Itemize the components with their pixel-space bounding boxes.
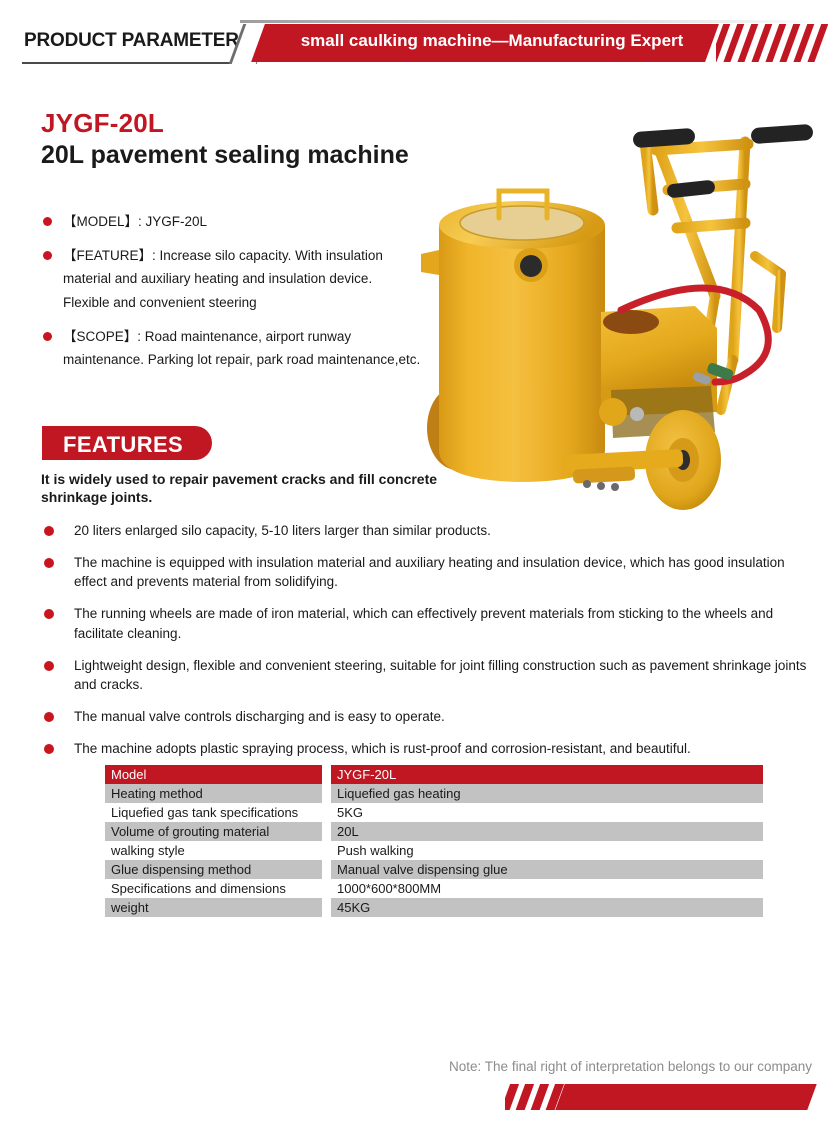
bullet-dot-icon: [44, 558, 54, 568]
spec-bullet-item: 【SCOPE】: Road maintenance, airport runwa…: [41, 325, 421, 371]
table-column-gap: [322, 898, 331, 917]
table-cell-value: 5KG: [331, 803, 763, 822]
feature-bullet-text: 20 liters enlarged silo capacity, 5-10 l…: [74, 523, 491, 538]
table-column-gap: [322, 822, 331, 841]
table-row: Glue dispensing methodManual valve dispe…: [105, 860, 763, 879]
header-stripe-decoration: [716, 24, 828, 62]
feature-bullet-item: The running wheels are made of iron mate…: [41, 604, 811, 642]
product-name: 20L pavement sealing machine: [41, 141, 409, 170]
spec-bullet-text: 【MODEL】: JYGF-20L: [63, 214, 207, 229]
table-cell-label: Heating method: [105, 784, 322, 803]
spec-bullet-text: 【FEATURE】: Increase silo capacity. With …: [63, 248, 383, 309]
table-cell-value: Liquefied gas heating: [331, 784, 763, 803]
spec-bullet-item: 【FEATURE】: Increase silo capacity. With …: [41, 244, 421, 314]
feature-bullet-text: The machine is equipped with insulation …: [74, 555, 785, 589]
footer-note: Note: The final right of interpretation …: [449, 1059, 812, 1074]
table-cell-value: JYGF-20L: [331, 765, 763, 784]
feature-bullet-text: Lightweight design, flexible and conveni…: [74, 658, 806, 692]
table-cell-value: 1000*600*800MM: [331, 879, 763, 898]
specification-table: ModelJYGF-20LHeating methodLiquefied gas…: [105, 765, 763, 917]
table-row: weight45KG: [105, 898, 763, 917]
table-cell-value: 45KG: [331, 898, 763, 917]
table-cell-value: 20L: [331, 822, 763, 841]
table-cell-label: weight: [105, 898, 322, 917]
feature-bullet-item: 20 liters enlarged silo capacity, 5-10 l…: [41, 521, 811, 540]
table-row: walking stylePush walking: [105, 841, 763, 860]
product-model-code: JYGF-20L: [41, 108, 164, 139]
bullet-dot-icon: [43, 251, 52, 260]
table-cell-label: Volume of grouting material: [105, 822, 322, 841]
table-cell-label: Glue dispensing method: [105, 860, 322, 879]
feature-bullet-text: The machine adopts plastic spraying proc…: [74, 741, 691, 756]
spec-bullet-text: 【SCOPE】: Road maintenance, airport runwa…: [63, 329, 420, 367]
table-row: Heating methodLiquefied gas heating: [105, 784, 763, 803]
page-title-underline: [22, 62, 237, 64]
features-intro-text: It is widely used to repair pavement cra…: [41, 470, 441, 507]
table-column-gap: [322, 841, 331, 860]
bullet-dot-icon: [44, 526, 54, 536]
bullet-dot-icon: [44, 661, 54, 671]
table-cell-label: Model: [105, 765, 322, 784]
table-column-gap: [322, 765, 331, 784]
feature-bullet-item: The machine is equipped with insulation …: [41, 553, 811, 591]
bullet-dot-icon: [43, 217, 52, 226]
table-column-gap: [322, 860, 331, 879]
table-column-gap: [322, 784, 331, 803]
table-cell-label: Specifications and dimensions: [105, 879, 322, 898]
header-banner-label: small caulking machine—Manufacturing Exp…: [282, 31, 702, 51]
bullet-dot-icon: [44, 609, 54, 619]
table-row: Specifications and dimensions1000*600*80…: [105, 879, 763, 898]
table-cell-label: Liquefied gas tank specifications: [105, 803, 322, 822]
table-row: ModelJYGF-20L: [105, 765, 763, 784]
feature-bullet-item: The manual valve controls discharging an…: [41, 707, 811, 726]
features-badge-label: FEATURES: [63, 432, 183, 458]
table-cell-value: Manual valve dispensing glue: [331, 860, 763, 879]
bullet-dot-icon: [44, 744, 54, 754]
product-spec-list: 【MODEL】: JYGF-20L【FEATURE】: Increase sil…: [41, 210, 421, 382]
table-row: Volume of grouting material20L: [105, 822, 763, 841]
table-row: Liquefied gas tank specifications5KG: [105, 803, 763, 822]
feature-bullet-item: Lightweight design, flexible and conveni…: [41, 656, 811, 694]
features-list: 20 liters enlarged silo capacity, 5-10 l…: [41, 521, 811, 771]
feature-bullet-text: The manual valve controls discharging an…: [74, 709, 445, 724]
table-cell-value: Push walking: [331, 841, 763, 860]
bullet-dot-icon: [43, 332, 52, 341]
feature-bullet-text: The running wheels are made of iron mate…: [74, 606, 773, 640]
feature-bullet-item: The machine adopts plastic spraying proc…: [41, 739, 811, 758]
footer-bar: [555, 1084, 816, 1110]
table-cell-label: walking style: [105, 841, 322, 860]
product-photo: [415, 60, 835, 520]
header-sheen-line: [240, 20, 830, 23]
bullet-dot-icon: [44, 712, 54, 722]
table-column-gap: [322, 879, 331, 898]
table-column-gap: [322, 803, 331, 822]
spec-bullet-item: 【MODEL】: JYGF-20L: [41, 210, 421, 233]
features-badge: FEATURES: [42, 426, 212, 460]
page-title: PRODUCT PARAMETERS: [24, 30, 251, 52]
